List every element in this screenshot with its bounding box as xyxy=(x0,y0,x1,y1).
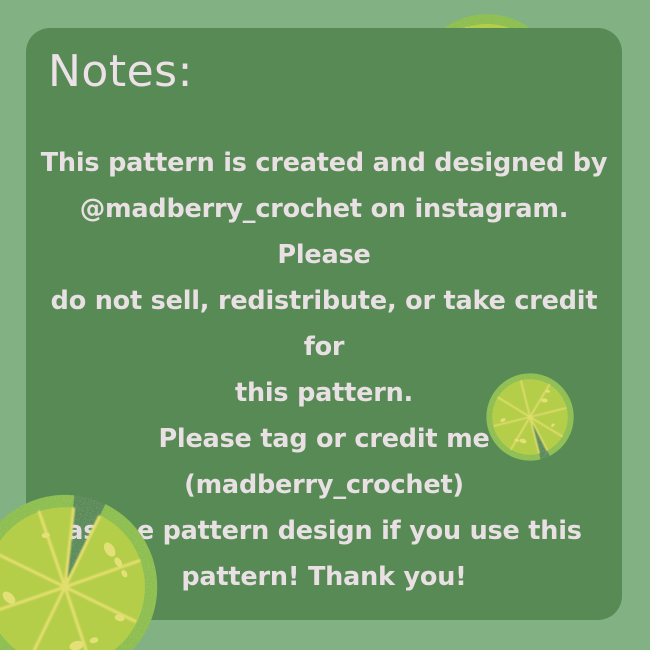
notes-card: Notes: This pattern is created and desig… xyxy=(26,28,622,620)
notes-line: This pattern is created and designed by xyxy=(36,140,612,186)
notes-line: Please tag or credit me (madberry_croche… xyxy=(36,416,612,508)
paragraph-spacer xyxy=(36,600,612,620)
notes-paragraph-1: This pattern is created and designed by … xyxy=(36,140,612,416)
notes-paragraph-2: Please tag or credit me (madberry_croche… xyxy=(36,416,612,600)
page-title: Notes: xyxy=(48,50,193,94)
notes-line: pattern! Thank you! xyxy=(36,554,612,600)
notes-line: as the pattern design if you use this xyxy=(36,508,612,554)
notes-line: do not sell, redistribute, or take credi… xyxy=(36,278,612,370)
notes-body-text: This pattern is created and designed by … xyxy=(36,140,612,620)
notes-line: this pattern. xyxy=(36,370,612,416)
poster-canvas: Notes: This pattern is created and desig… xyxy=(0,0,650,650)
notes-line: @madberry_crochet on instagram. Please xyxy=(36,186,612,278)
